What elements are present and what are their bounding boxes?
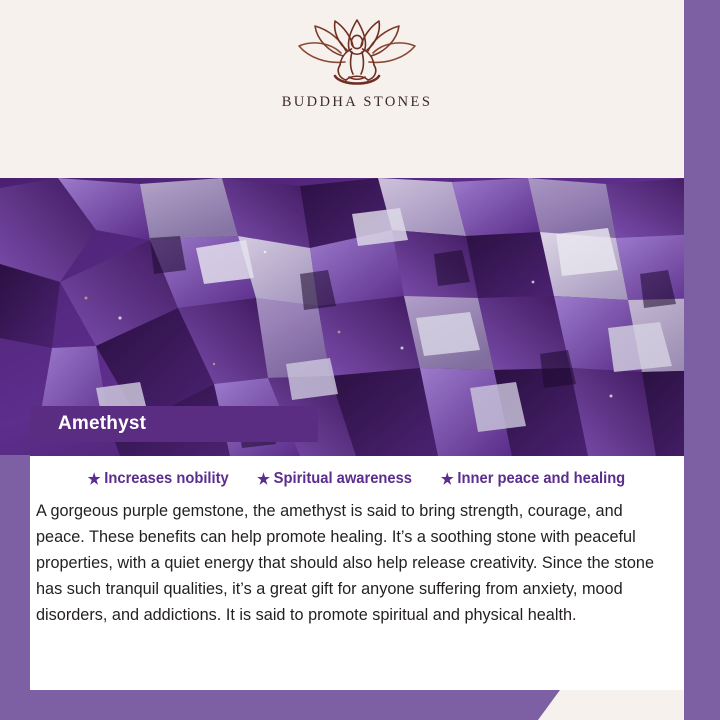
star-icon: ★ bbox=[88, 472, 101, 487]
brand-name: BUDDHA STONES bbox=[282, 94, 433, 111]
lotus-meditation-icon bbox=[283, 18, 431, 90]
card-content: ★ Increases nobility ★ Spiritual awarene… bbox=[30, 456, 684, 690]
star-icon: ★ bbox=[257, 472, 270, 487]
feature-label: Spiritual awareness bbox=[273, 470, 411, 488]
decorative-right-lower-bar bbox=[684, 538, 720, 720]
decorative-left-bar bbox=[0, 455, 30, 720]
product-info-card: BUDDHA STONES Stone Features & Benefits bbox=[0, 0, 720, 720]
star-icon: ★ bbox=[441, 472, 454, 487]
decorative-bottom-bar bbox=[0, 690, 560, 720]
feature-label: Inner peace and healing bbox=[457, 470, 625, 488]
feature-list: ★ Increases nobility ★ Spiritual awarene… bbox=[30, 456, 684, 488]
feature-item-1: ★ Spiritual awareness bbox=[257, 470, 412, 488]
feature-item-0: ★ Increases nobility bbox=[88, 470, 229, 488]
feature-item-2: ★ Inner peace and healing bbox=[441, 470, 625, 488]
card-header: BUDDHA STONES bbox=[30, 0, 684, 178]
feature-label: Increases nobility bbox=[105, 470, 229, 488]
stone-name-banner: Amethyst bbox=[30, 406, 318, 442]
stone-name: Amethyst bbox=[58, 413, 146, 435]
decorative-right-bar bbox=[684, 0, 720, 560]
stone-description: A gorgeous purple gemstone, the amethyst… bbox=[36, 498, 667, 628]
brand-logo: BUDDHA STONES bbox=[282, 18, 433, 111]
